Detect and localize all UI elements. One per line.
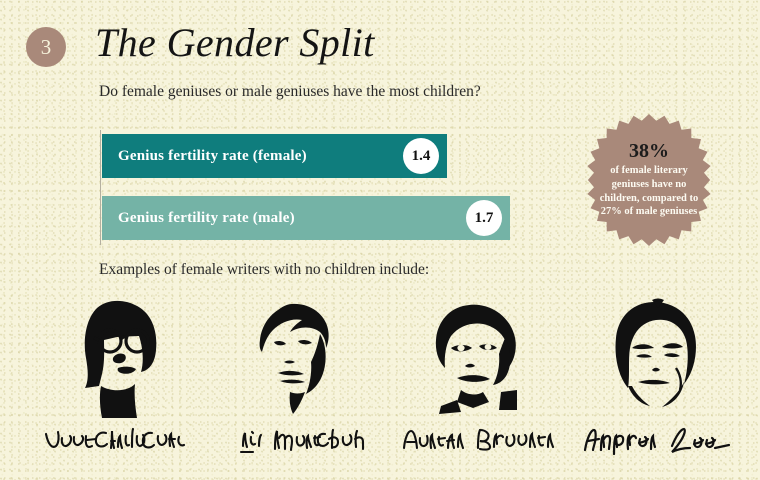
signature-icon — [577, 424, 737, 458]
bar-value-badge: 1.4 — [403, 138, 439, 174]
portrait-anita-brookner — [395, 296, 560, 464]
bar-value-badge: 1.7 — [466, 200, 502, 236]
portrait-joyce-carol-oates — [37, 296, 202, 464]
examples-label: Examples of female writers with no child… — [99, 261, 429, 279]
fertility-bar-chart: Genius fertility rate (female) 1.4 Geniu… — [100, 130, 530, 245]
bar-male: Genius fertility rate (male) — [102, 196, 510, 240]
page-title: The Gender Split — [95, 19, 375, 66]
portrait-illustration-icon — [234, 296, 364, 421]
chart-axis-line — [100, 130, 101, 245]
portrait-illustration-icon — [413, 296, 543, 421]
signature-icon — [398, 424, 558, 458]
bar-label: Genius fertility rate (male) — [102, 210, 295, 227]
page-subtitle: Do female geniuses or male geniuses have… — [99, 83, 481, 101]
signature-icon — [40, 424, 200, 458]
bar-female: Genius fertility rate (female) — [102, 134, 447, 178]
bar-label: Genius fertility rate (female) — [102, 148, 307, 165]
section-number-badge: 3 — [26, 27, 66, 67]
portrait-iris-murdoch — [216, 296, 381, 464]
portrait-illustration-icon — [55, 296, 185, 421]
infographic-slide: 3 The Gender Split Do female geniuses or… — [0, 0, 760, 480]
starburst-stat-badge: 38% of female literary geniuses have no … — [584, 114, 714, 246]
starburst-body-text: of female literary geniuses have no chil… — [597, 164, 701, 219]
starburst-percent: 38% — [629, 141, 669, 161]
signature-icon — [219, 424, 379, 458]
portrait-gallery — [30, 296, 746, 464]
portrait-harper-lee — [574, 296, 739, 464]
portrait-illustration-icon — [592, 296, 722, 421]
